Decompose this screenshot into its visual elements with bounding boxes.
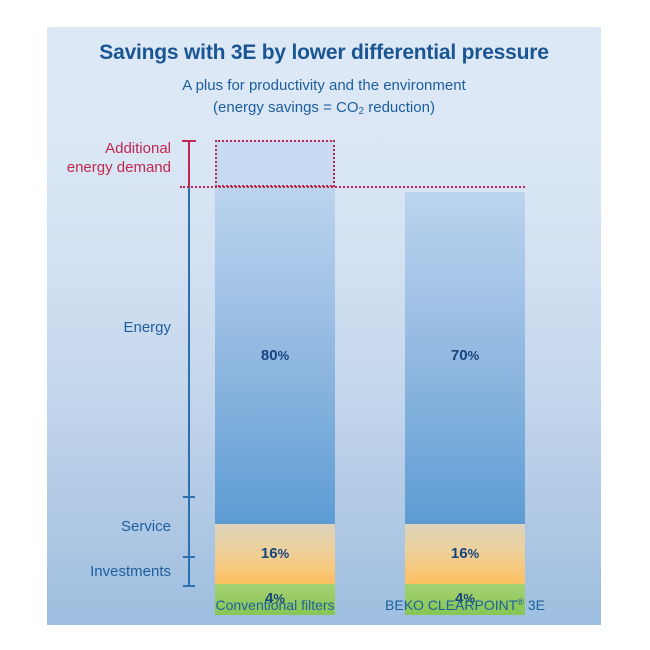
axis-label-additional-energy-demand: Additional energy demand xyxy=(47,139,171,177)
chart-subtitle-line-1: A plus for productivity and the environm… xyxy=(47,75,601,97)
x-axis-label-conventional-filters: Conventional filters xyxy=(185,597,365,613)
additional-energy-demand-box xyxy=(215,140,335,187)
bracket-additional-energy-demand xyxy=(182,140,196,187)
axis-label-energy: Energy xyxy=(47,318,171,337)
value-number: 70 xyxy=(451,347,468,364)
axis-label-service: Service xyxy=(47,517,171,536)
bracket-cap-bottom xyxy=(183,585,195,587)
value-number: 16 xyxy=(451,545,468,562)
bar-value-clearpoint-service: 16% xyxy=(405,545,525,562)
axis-label-additional-line-2: energy demand xyxy=(67,159,171,176)
x-axis-label-model: 3E xyxy=(524,597,545,613)
chart-title: Savings with 3E by lower differential pr… xyxy=(47,41,601,65)
bracket-stem xyxy=(188,556,190,587)
axis-label-additional-line-1: Additional xyxy=(105,140,171,157)
additional-energy-demand-baseline xyxy=(180,186,525,188)
chart-subtitle: A plus for productivity and the environm… xyxy=(47,75,601,123)
bar-value-conventional-energy: 80% xyxy=(215,347,335,364)
value-unit: % xyxy=(468,348,480,363)
bracket-investments xyxy=(182,556,196,587)
registered-trademark-icon: ® xyxy=(517,597,524,607)
chart-card: Savings with 3E by lower differential pr… xyxy=(47,27,601,625)
x-axis-label-beko-clearpoint-3e: BEKO CLEARPOINT® 3E xyxy=(375,597,555,613)
bracket-stem xyxy=(188,140,190,187)
subtitle-co2-prefix: (energy savings = CO xyxy=(213,99,358,116)
bracket-tick-service-top xyxy=(183,496,195,498)
bracket-energy-service xyxy=(182,187,196,587)
bracket-stem xyxy=(188,187,190,587)
value-unit: % xyxy=(278,348,290,363)
chart-subtitle-line-2: (energy savings = CO2 reduction) xyxy=(47,97,601,123)
subtitle-co2-suffix: reduction) xyxy=(364,99,435,116)
bar-value-clearpoint-energy: 70% xyxy=(405,347,525,364)
value-unit: % xyxy=(468,546,480,561)
value-unit: % xyxy=(278,546,290,561)
value-number: 80 xyxy=(261,347,278,364)
bar-value-conventional-service: 16% xyxy=(215,545,335,562)
value-number: 16 xyxy=(261,545,278,562)
axis-label-investments: Investments xyxy=(47,562,171,581)
x-axis-label-brand: BEKO CLEARPOINT xyxy=(385,597,517,613)
